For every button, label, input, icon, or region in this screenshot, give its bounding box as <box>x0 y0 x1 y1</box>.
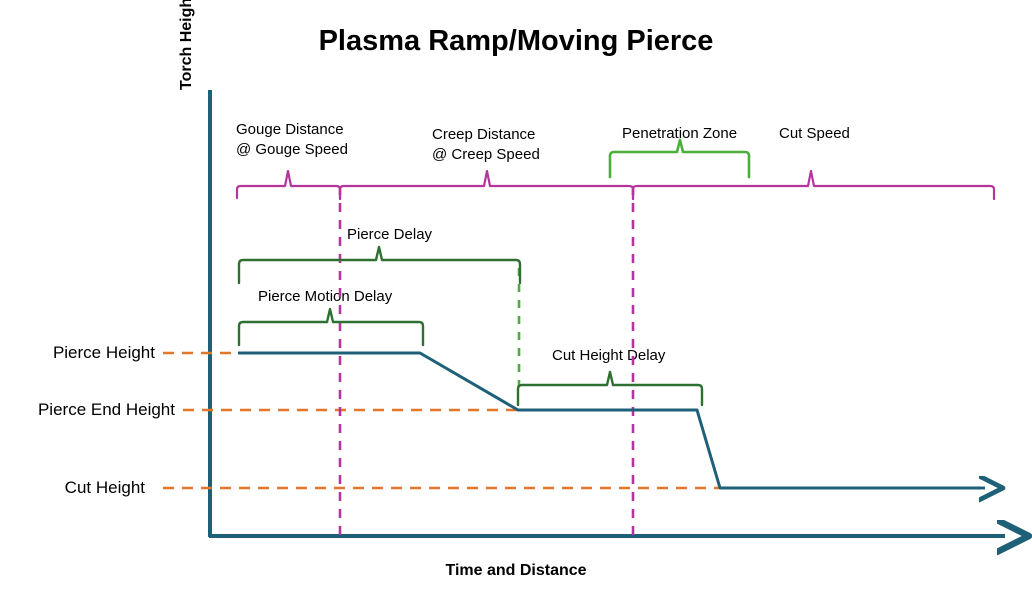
penetration-zone-bracket <box>610 140 749 177</box>
height-reference-lines <box>163 353 722 488</box>
magenta-divider-lines <box>340 186 633 536</box>
top-speed-bracket <box>237 171 994 199</box>
creep-distance-bracket <box>340 171 633 199</box>
plasma-ramp-diagram: Plasma Ramp/Moving Pierce Torch Height T… <box>0 0 1032 596</box>
pierce-delay-bracket <box>239 247 520 283</box>
cut-height-delay-bracket <box>518 372 702 405</box>
pierce-motion-delay-bracket <box>239 309 423 345</box>
diagram-canvas <box>0 0 1032 596</box>
gouge-distance-bracket <box>237 171 340 199</box>
cut-speed-bracket <box>633 171 994 199</box>
